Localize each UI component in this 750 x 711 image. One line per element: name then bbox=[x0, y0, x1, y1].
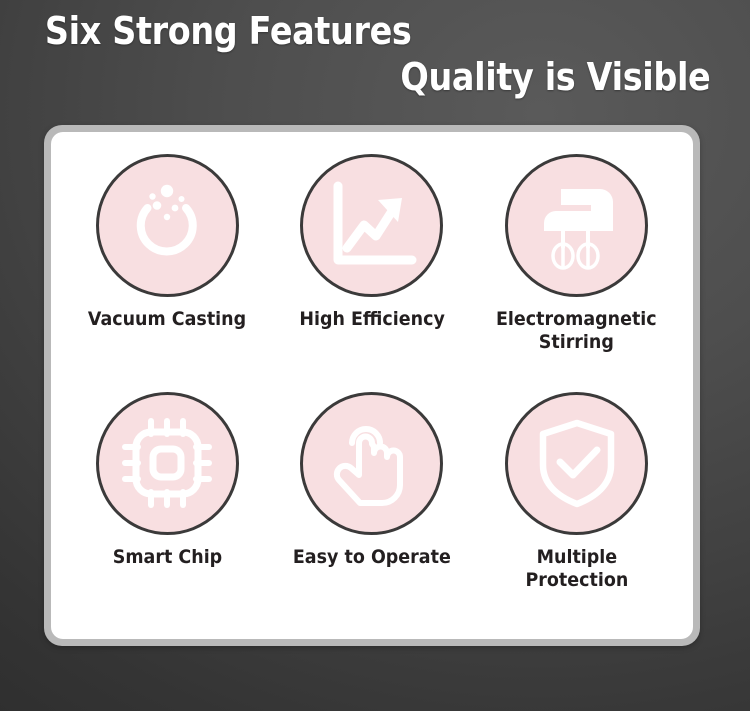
feature-item-electromagnetic-stirring: Electromagnetic Stirring bbox=[474, 154, 679, 392]
feature-label: High Efficiency bbox=[299, 308, 445, 331]
icon-bubble bbox=[96, 154, 239, 297]
feature-label: Vacuum Casting bbox=[88, 308, 246, 331]
feature-label-line-1: Electromagnetic bbox=[496, 308, 657, 330]
feature-item-easy-to-operate: Easy to Operate bbox=[270, 392, 475, 630]
feature-label-line-1: Vacuum Casting bbox=[88, 308, 246, 330]
feature-label-line-2: Protection bbox=[525, 569, 628, 592]
feature-label-line-1: Easy to Operate bbox=[293, 546, 451, 568]
cpu-chip-icon bbox=[119, 415, 215, 511]
feature-label: Multiple Protection bbox=[525, 546, 628, 592]
feature-grid: Vacuum Casting bbox=[65, 154, 679, 629]
poster-heading: Six Strong Features Quality is Visible bbox=[0, 8, 750, 100]
feature-label-line-1: Multiple bbox=[536, 546, 617, 568]
feature-item-smart-chip: Smart Chip bbox=[65, 392, 270, 630]
feature-item-high-efficiency: High Efficiency bbox=[270, 154, 475, 392]
headline-line-2: Quality is Visible bbox=[107, 54, 728, 100]
tap-hand-icon bbox=[326, 417, 418, 509]
feature-label-line-1: High Efficiency bbox=[299, 308, 445, 330]
feature-label: Electromagnetic Stirring bbox=[496, 308, 657, 354]
feature-label: Smart Chip bbox=[113, 546, 222, 569]
icon-bubble bbox=[505, 392, 648, 535]
icon-bubble bbox=[300, 392, 443, 535]
feature-label: Easy to Operate bbox=[293, 546, 451, 569]
hand-mixer-icon bbox=[530, 179, 624, 273]
icon-bubble bbox=[96, 392, 239, 535]
icon-bubble bbox=[300, 154, 443, 297]
feature-item-multiple-protection: Multiple Protection bbox=[474, 392, 679, 630]
feature-label-line-1: Smart Chip bbox=[113, 546, 222, 568]
headline-line-1: Six Strong Features bbox=[22, 8, 643, 54]
feature-card: Vacuum Casting bbox=[51, 132, 693, 639]
feature-item-vacuum-casting: Vacuum Casting bbox=[65, 154, 270, 392]
icon-bubble bbox=[505, 154, 648, 297]
feature-label-line-2: Stirring bbox=[496, 331, 657, 354]
feature-poster: Six Strong Features Quality is Visible bbox=[0, 0, 750, 711]
vacuum-bubbles-icon bbox=[119, 178, 215, 274]
feature-card-frame: Vacuum Casting bbox=[44, 125, 700, 646]
shield-check-icon bbox=[531, 417, 623, 509]
growth-chart-arrow-icon bbox=[326, 180, 418, 272]
